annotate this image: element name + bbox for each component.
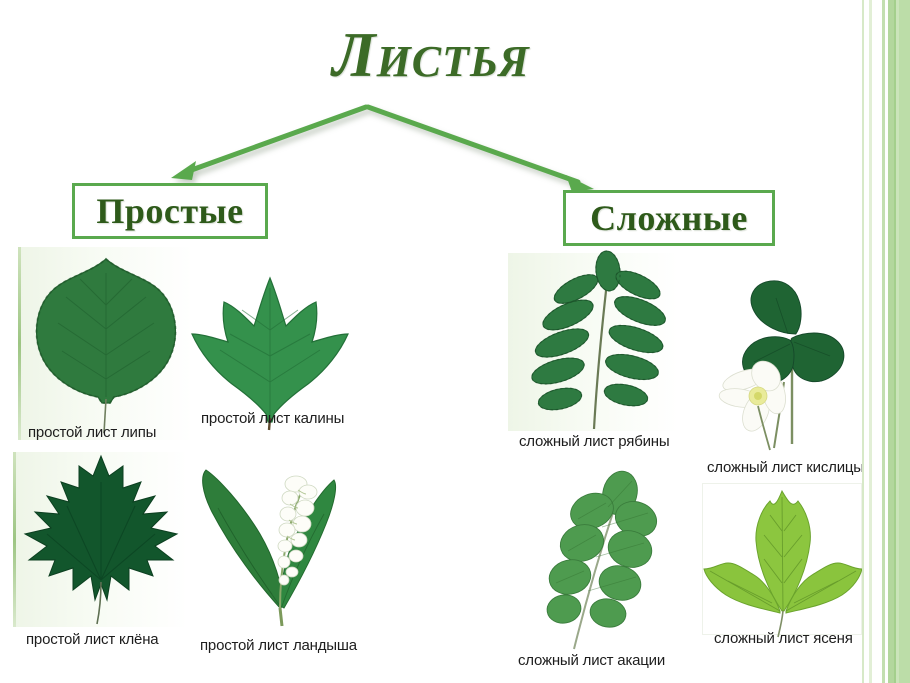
leaf-image-acacia xyxy=(508,473,678,651)
rowan-compound-leaf xyxy=(529,250,669,429)
leaf-image-ash xyxy=(702,483,864,641)
slide-canvas: Листья Простые Сложные xyxy=(0,0,910,683)
leaf-image-sorrel xyxy=(700,272,865,457)
category-box-simple[interactable]: Простые xyxy=(72,183,268,239)
acacia-compound-leaf xyxy=(545,468,662,649)
leaf-caption-maple: простой лист клёна xyxy=(26,631,158,648)
leaf-caption-acacia: сложный лист акации xyxy=(518,652,665,669)
leaf-caption-viburnum: простой лист калины xyxy=(201,410,344,427)
leaf-caption-sorrel: сложный лист кислицы xyxy=(707,459,864,476)
leaf-caption-ash: сложный лист ясеня xyxy=(714,630,853,647)
arrow-to-compound xyxy=(368,107,594,192)
lily-of-the-valley-shape xyxy=(203,470,336,626)
leaf-image-linden xyxy=(18,247,193,440)
leaf-caption-lily: простой лист ландыша xyxy=(200,637,357,654)
wood-sorrel-compound-leaf xyxy=(718,277,844,450)
leaf-image-maple xyxy=(13,452,188,627)
ash-compound-leaf xyxy=(704,491,862,637)
arrow-to-simple xyxy=(171,107,366,180)
leaf-caption-linden: простой лист липы xyxy=(28,424,156,441)
leaf-caption-rowan: сложный лист рябины xyxy=(519,433,669,450)
leaf-image-rowan xyxy=(508,253,683,433)
leaf-image-lily xyxy=(192,458,360,630)
category-box-compound[interactable]: Сложные xyxy=(563,190,775,246)
linden-leaf-shape xyxy=(37,259,176,433)
leaf-image-viburnum xyxy=(186,272,356,432)
viburnum-leaf-shape xyxy=(192,278,348,430)
maple-leaf-shape xyxy=(25,456,177,624)
